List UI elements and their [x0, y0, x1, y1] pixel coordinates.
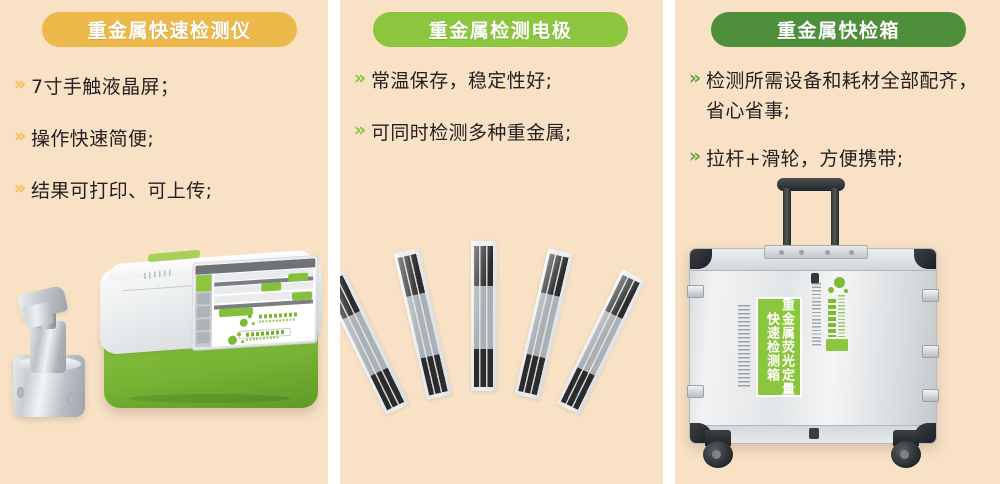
bullet-text: 检测所需设备和耗材全部配齐，省心省事;: [706, 66, 992, 126]
panel-2-title: 重金属检测电极: [429, 16, 573, 43]
list-item: » 操作快速简便;: [9, 124, 320, 154]
sidebar-item[interactable]: [197, 319, 210, 331]
product-feature-banner: 重金属快速检测仪 » 7寸手触液晶屏； » 操作快速简便; » 结果可打印、可上…: [0, 0, 1000, 484]
panel-1-title: 重金属快速检测仪: [87, 16, 251, 43]
case-bottom-lock[interactable]: [809, 428, 819, 439]
list-item: » 7寸手触液晶屏；: [9, 72, 320, 102]
panel-2-title-pill: 重金属检测电极: [373, 12, 628, 47]
panel-1-title-pill: 重金属快速检测仪: [42, 12, 297, 47]
electrode-strip: [514, 248, 573, 400]
case-wheel-right: [889, 430, 923, 468]
case-company-text-block: [738, 305, 750, 387]
list-item: » 检测所需设备和耗材全部配齐，省心省事;: [684, 66, 992, 126]
electrode-strip: [471, 241, 497, 391]
product-photo-test-case: 快速检测箱 重金属荧光定量: [675, 178, 1000, 484]
holder-slot-left: [17, 387, 24, 398]
sidebar-item[interactable]: [197, 293, 210, 305]
case-lock-bar: [764, 245, 868, 259]
bullet-text: 拉杆+滑轮，方便携带;: [706, 144, 904, 174]
electrode-strip: [393, 248, 452, 400]
sample-holder-illustration: [11, 287, 99, 419]
electrode-strip: [340, 269, 410, 415]
sidebar-item[interactable]: [197, 332, 210, 344]
chevron-double-right-icon: »: [684, 144, 706, 168]
chevron-double-right-icon: »: [9, 124, 31, 148]
case-latch[interactable]: [687, 285, 704, 298]
case-label-line-1: 重金属荧光定量: [780, 298, 793, 396]
case-slogan-text-block: [812, 283, 821, 347]
chevron-double-right-icon: »: [9, 176, 31, 200]
sidebar-item-active[interactable]: [196, 275, 211, 292]
list-item: » 可同时检测多种重金属;: [349, 118, 655, 148]
bullet-text: 结果可打印、可上传;: [31, 176, 212, 206]
panel-3-title-pill: 重金属快检箱: [711, 12, 966, 47]
bullet-text: 7寸手触液晶屏；: [31, 72, 179, 102]
screen-brand-logo: [239, 311, 301, 329]
case-green-label: 快速检测箱 重金属荧光定量: [756, 297, 802, 397]
sidebar-item[interactable]: [197, 306, 210, 318]
chevron-double-right-icon: »: [349, 66, 371, 90]
panel-1-bullet-list: » 7寸手触液晶屏； » 操作快速简便; » 结果可打印、可上传;: [9, 72, 320, 228]
list-item: » 结果可打印、可上传;: [9, 176, 320, 206]
chevron-double-right-icon: »: [349, 118, 371, 142]
case-latch[interactable]: [687, 385, 704, 398]
electrode-strip: [556, 269, 645, 415]
product-photo-electrodes: [340, 225, 663, 435]
chevron-double-right-icon: »: [9, 72, 31, 96]
bullet-text: 操作快速简便;: [31, 124, 154, 154]
panel-2-bullet-list: » 常温保存，稳定性好; » 可同时检测多种重金属;: [349, 66, 655, 170]
panel-3-bullet-list: » 检测所需设备和耗材全部配齐，省心省事; » 拉杆+滑轮，方便携带;: [684, 66, 992, 192]
aluminium-case-shell: 快速检测箱 重金属荧光定量: [689, 248, 937, 444]
chevron-double-right-icon: »: [684, 66, 706, 90]
analyzer-illustration: [100, 255, 322, 425]
list-item: » 常温保存，稳定性好;: [349, 66, 655, 96]
panel-heavy-metal-detection-electrode: 重金属检测电极 » 常温保存，稳定性好; » 可同时检测多种重金属;: [340, 0, 663, 484]
telescopic-handle: [777, 178, 845, 254]
panel-3-title: 重金属快检箱: [777, 16, 900, 43]
holder-slot-right: [67, 393, 74, 404]
case-brand-logo: [826, 277, 852, 339]
product-photo-analyzer: [0, 255, 328, 484]
case-latch[interactable]: [922, 389, 939, 402]
bullet-text: 可同时检测多种重金属;: [371, 118, 572, 148]
list-item: » 拉杆+滑轮，方便携带;: [684, 144, 992, 174]
case-label-line-2: 快速检测箱: [765, 312, 778, 382]
panel-heavy-metal-rapid-test-case: 重金属快检箱 » 检测所需设备和耗材全部配齐，省心省事; » 拉杆+滑轮，方便携…: [675, 0, 1000, 484]
bullet-text: 常温保存，稳定性好;: [371, 66, 552, 96]
screen-button[interactable]: [261, 282, 281, 291]
screen-button[interactable]: [288, 273, 308, 282]
case-latch[interactable]: [922, 289, 939, 302]
case-latch[interactable]: [922, 345, 939, 358]
screen-sidebar[interactable]: [195, 274, 213, 348]
panel-heavy-metal-rapid-analyzer: 重金属快速检测仪 » 7寸手触液晶屏； » 操作快速简便; » 结果可打印、可上…: [0, 0, 328, 484]
case-wheel-left: [701, 430, 735, 468]
screen-button[interactable]: [292, 291, 312, 300]
